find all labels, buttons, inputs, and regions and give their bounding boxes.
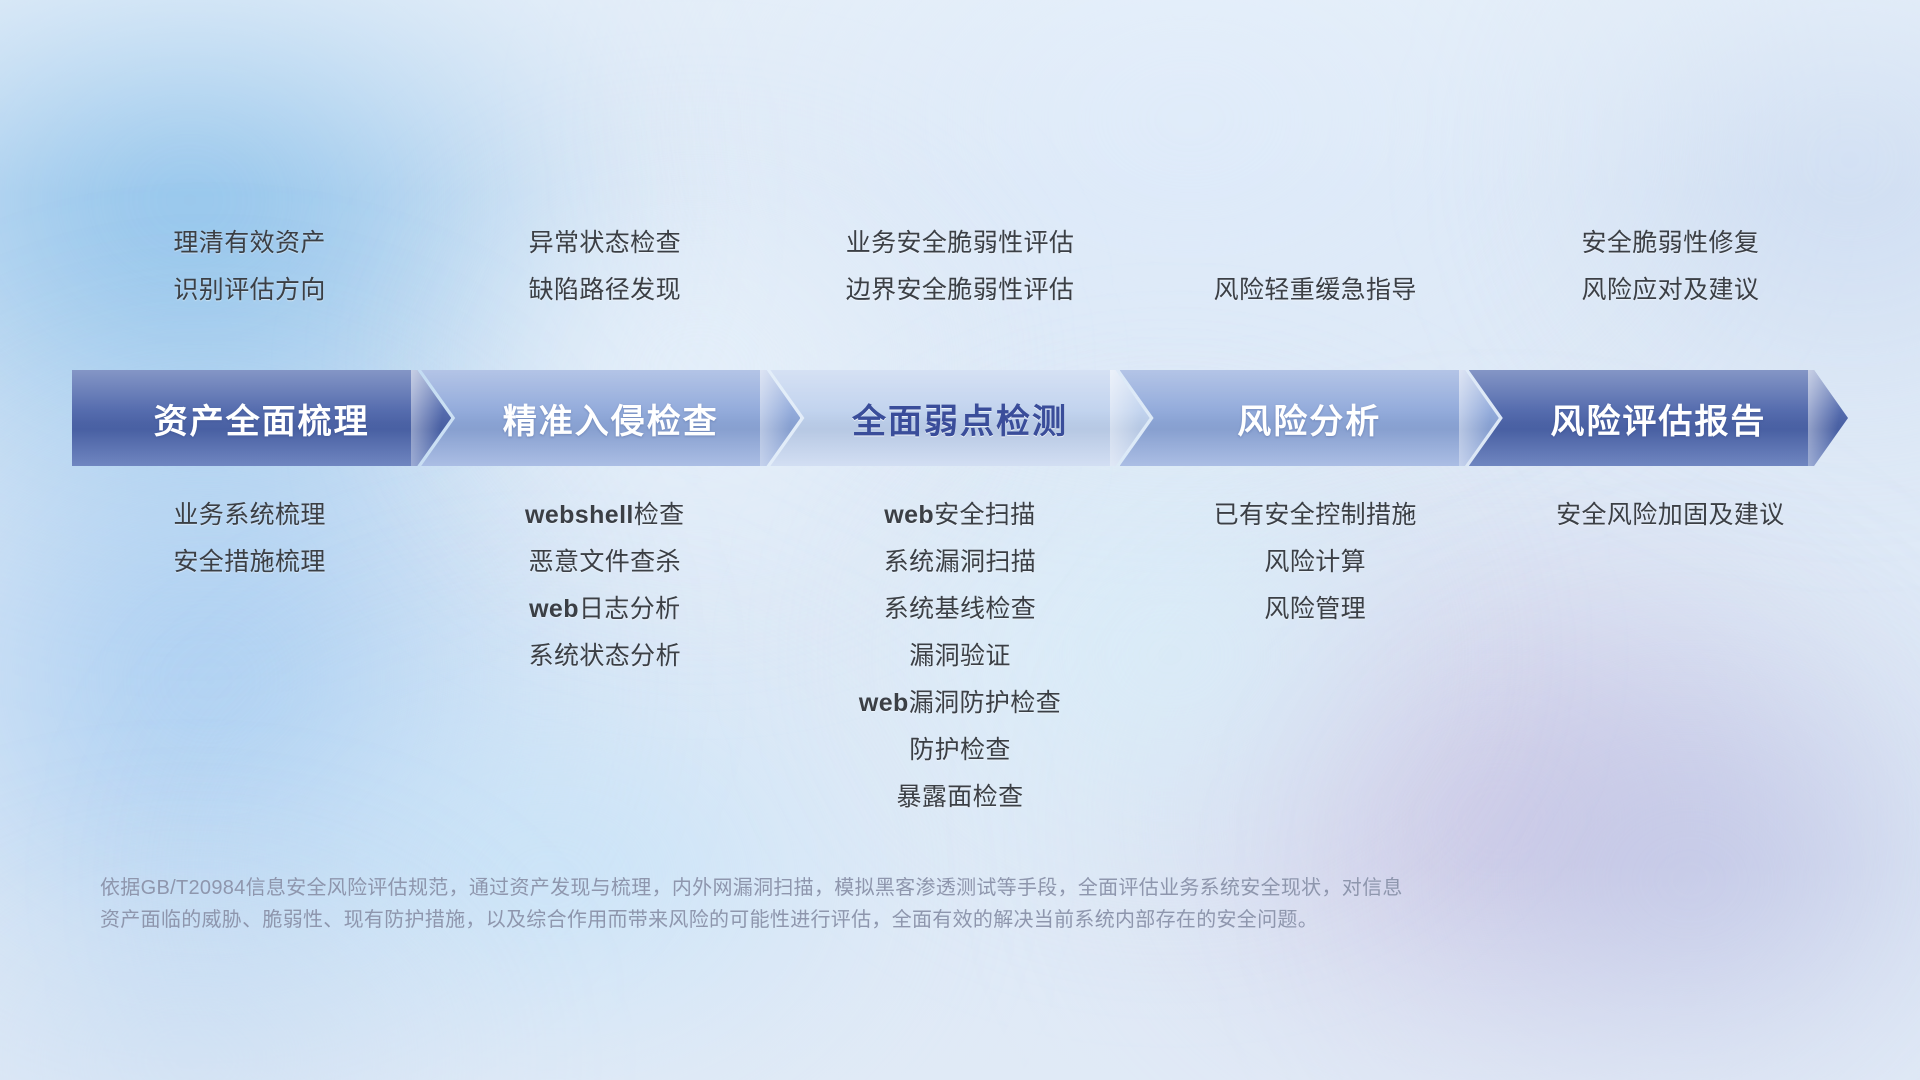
activity-item: web日志分析 (529, 594, 680, 625)
stage-label-assessment-report: 风险评估报告 (1550, 394, 1766, 443)
footer-line-2: 资产面临的威胁、脆弱性、现有防护措施，以及综合作用而带来风险的可能性进行评估，全… (100, 904, 1740, 936)
activities-assessment-report: 安全风险加固及建议 (1493, 500, 1848, 531)
activity-item: 系统状态分析 (529, 641, 681, 672)
outcome-item: 风险轻重缓急指导 (1214, 275, 1417, 306)
activity-item: 安全措施梳理 (173, 547, 325, 578)
process-ribbon: 资产全面梳理精准入侵检查全面弱点检测风险分析风险评估报告 (72, 370, 1848, 466)
outcomes-asset-inventory: 理清有效资产识别评估方向 (72, 190, 427, 306)
outcome-item: 理清有效资产 (173, 228, 325, 259)
outcomes-risk-analysis: 风险轻重缓急指导 (1138, 190, 1493, 306)
activity-item: web漏洞防护检查 (859, 688, 1061, 719)
outcome-list: 理清有效资产识别评估方向 (72, 228, 427, 306)
stage-label-weakness-detection: 全面弱点检测 (852, 394, 1068, 443)
outcome-item: 异常状态检查 (529, 228, 681, 259)
stage-chevron-assessment-report[interactable]: 风险评估报告 (1469, 370, 1848, 466)
activities-risk-analysis: 已有安全控制措施风险计算风险管理 (1138, 500, 1493, 625)
stage-label-intrusion-check: 精准入侵检查 (503, 394, 719, 443)
activity-item: 系统基线检查 (884, 594, 1036, 625)
slide-canvas: 理清有效资产识别评估方向业务系统梳理安全措施梳理异常状态检查缺陷路径发现webs… (0, 0, 1920, 1080)
outcome-item: 边界安全脆弱性评估 (846, 275, 1075, 306)
outcomes-assessment-report: 安全脆弱性修复风险应对及建议 (1493, 190, 1848, 306)
outcomes-intrusion-check: 异常状态检查缺陷路径发现 (427, 190, 782, 306)
activity-item: webshell检查 (525, 500, 685, 531)
activity-item-cjk: 安全扫描 (934, 501, 1036, 529)
outcome-item: 风险应对及建议 (1581, 275, 1759, 306)
footer-line-1: 依据GB/T20984信息安全风险评估规范，通过资产发现与梳理，内外网漏洞扫描，… (100, 872, 1740, 904)
outcome-item: 安全脆弱性修复 (1581, 228, 1759, 259)
stage-label-risk-analysis: 风险分析 (1237, 394, 1381, 443)
activity-item: 防护检查 (909, 735, 1011, 766)
activity-item-latin: web (529, 595, 579, 623)
outcome-list: 风险轻重缓急指导 (1138, 275, 1493, 306)
outcome-item: 缺陷路径发现 (529, 275, 681, 306)
activity-item: 漏洞验证 (909, 641, 1011, 672)
activity-item: 暴露面检查 (896, 782, 1023, 813)
activity-item: 安全风险加固及建议 (1556, 500, 1785, 531)
activity-item-cjk: 检查 (634, 501, 685, 529)
activity-item: 业务系统梳理 (173, 500, 325, 531)
outcome-item: 业务安全脆弱性评估 (846, 228, 1075, 259)
stage-chevron-asset-inventory[interactable]: 资产全面梳理 (72, 370, 451, 466)
outcome-list: 异常状态检查缺陷路径发现 (427, 228, 782, 306)
activity-item-cjk: 日志分析 (579, 595, 681, 623)
activity-item-latin: webshell (525, 501, 634, 529)
outcome-list: 安全脆弱性修复风险应对及建议 (1493, 228, 1848, 306)
activities-intrusion-check: webshell检查恶意文件查杀web日志分析系统状态分析 (427, 500, 782, 672)
stage-label-asset-inventory: 资产全面梳理 (154, 394, 370, 443)
footer-description: 依据GB/T20984信息安全风险评估规范，通过资产发现与梳理，内外网漏洞扫描，… (100, 872, 1740, 937)
stage-chevron-intrusion-check[interactable]: 精准入侵检查 (421, 370, 800, 466)
activity-item: 风险计算 (1264, 547, 1366, 578)
activity-item-latin: web (859, 689, 909, 717)
chevron-arrow-tip-icon (1808, 370, 1848, 466)
activity-item: 已有安全控制措施 (1214, 500, 1417, 531)
outcomes-weakness-detection: 业务安全脆弱性评估边界安全脆弱性评估 (782, 190, 1137, 306)
outcome-list: 业务安全脆弱性评估边界安全脆弱性评估 (782, 228, 1137, 306)
activity-item: 风险管理 (1264, 594, 1366, 625)
activity-item: 恶意文件查杀 (529, 547, 681, 578)
activity-item: 系统漏洞扫描 (884, 547, 1036, 578)
stage-chevron-weakness-detection[interactable]: 全面弱点检测 (770, 370, 1149, 466)
outcome-item: 识别评估方向 (173, 275, 325, 306)
activity-item-cjk: 漏洞防护检查 (909, 689, 1061, 717)
activity-item: web安全扫描 (884, 500, 1035, 531)
stage-chevron-risk-analysis[interactable]: 风险分析 (1120, 370, 1499, 466)
activities-weakness-detection: web安全扫描系统漏洞扫描系统基线检查漏洞验证web漏洞防护检查防护检查暴露面检… (782, 500, 1137, 813)
activity-item-latin: web (884, 501, 934, 529)
activities-asset-inventory: 业务系统梳理安全措施梳理 (72, 500, 427, 578)
